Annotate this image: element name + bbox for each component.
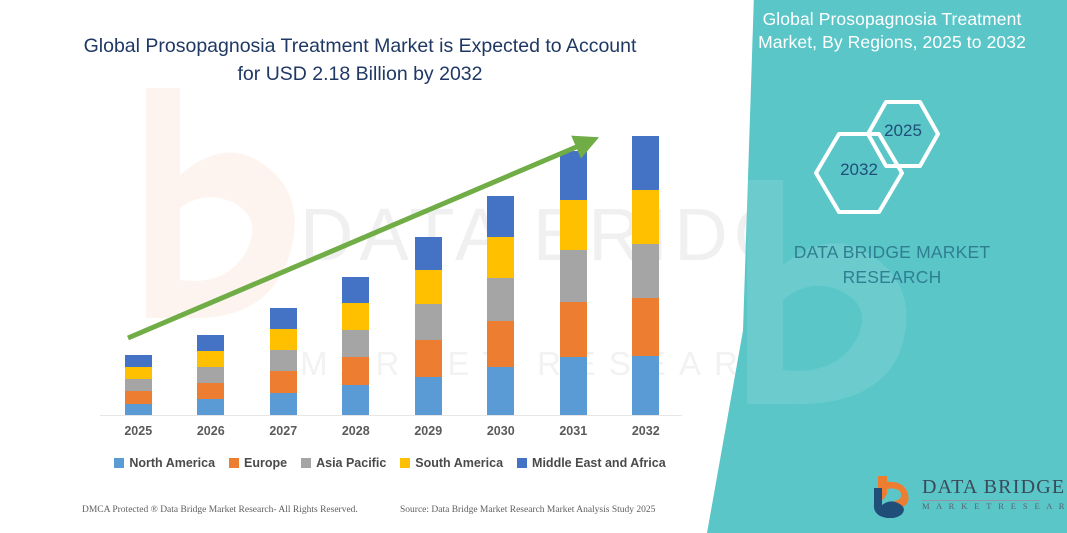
x-axis-labels: 20252026202720282029203020312032 [100,424,680,444]
bar-segment [125,367,152,379]
logo-tagline: M A R K E T R E S E A R C H [922,501,1067,511]
bar-segment [415,304,442,340]
bar-segment [342,357,369,385]
data-bridge-logo: DATA BRIDGE M A R K E T R E S E A R C H [870,472,1045,522]
hexagon-2032-label: 2032 [812,160,906,180]
legend-item[interactable]: Asia Pacific [301,456,386,470]
bar-segment [125,355,152,367]
bar-2029[interactable] [415,237,442,416]
bar-segment [632,356,659,416]
bar-segment [415,377,442,416]
bar-segment [632,190,659,244]
hexagon-group: 2025 2032 [812,98,972,208]
bar-segment [270,350,297,371]
bar-2028[interactable] [342,277,369,416]
legend-swatch-icon [400,458,410,468]
bar-segment [125,379,152,391]
x-axis-label-2025: 2025 [108,424,168,438]
bar-segment [197,383,224,399]
bar-segment [560,357,587,416]
bar-segment [632,136,659,190]
x-axis-label-2030: 2030 [471,424,531,438]
side-panel-brand: DATA BRIDGE MARKET RESEARCH [737,240,1047,291]
legend-swatch-icon [517,458,527,468]
legend-label: South America [415,456,503,470]
bar-segment [270,329,297,350]
bar-segment [197,335,224,351]
side-panel-brand-line2: RESEARCH [843,267,942,287]
x-axis-label-2026: 2026 [181,424,241,438]
bar-segment [487,237,514,279]
bar-segment [342,385,369,416]
bar-segment [560,302,587,357]
x-axis-label-2028: 2028 [326,424,386,438]
bar-segment [415,270,442,304]
bar-segment [270,371,297,393]
legend-label: North America [129,456,215,470]
side-panel-title-line2: Market, By Regions, 2025 to 2032 [758,32,1026,52]
bar-2030[interactable] [487,196,514,416]
data-bridge-mark-icon [870,474,916,518]
side-panel-title-line1: Global Prosopagnosia Treatment [763,9,1022,29]
bar-segment [560,200,587,250]
side-panel: Global Prosopagnosia Treatment Market, B… [707,0,1067,533]
bar-segment [197,367,224,383]
hexagon-2032: 2032 [812,130,906,216]
bar-2025[interactable] [125,355,152,416]
chart-title-line1: Global Prosopagnosia Treatment Market is… [84,35,637,57]
bar-2027[interactable] [270,308,297,416]
legend-label: Asia Pacific [316,456,386,470]
legend-swatch-icon [114,458,124,468]
side-panel-title: Global Prosopagnosia Treatment Market, B… [737,8,1047,54]
legend-item[interactable]: Europe [229,456,287,470]
bar-segment [632,244,659,298]
side-panel-brand-line1: DATA BRIDGE MARKET [794,242,990,262]
bar-segment [415,340,442,377]
legend-item[interactable]: North America [114,456,215,470]
chart-legend: North AmericaEuropeAsia PacificSouth Ame… [100,456,680,470]
logo-name: DATA BRIDGE [922,476,1065,499]
bar-segment [270,393,297,416]
x-axis-label-2027: 2027 [253,424,313,438]
bar-segment [487,278,514,321]
legend-label: Middle East and Africa [532,456,666,470]
bar-segment [342,303,369,330]
bar-segment [487,367,514,416]
x-axis-line [100,415,682,416]
chart-title-line2: for USD 2.18 Billion by 2032 [238,63,483,85]
x-axis-label-2029: 2029 [398,424,458,438]
bar-segment [487,196,514,237]
bar-segment [560,151,587,200]
stacked-bar-plot [100,120,680,416]
legend-item[interactable]: Middle East and Africa [517,456,666,470]
legend-label: Europe [244,456,287,470]
bar-2032[interactable] [632,136,659,416]
footer-copyright: DMCA Protected ® Data Bridge Market Rese… [82,505,358,515]
x-axis-label-2031: 2031 [543,424,603,438]
bar-segment [197,351,224,367]
chart-title: Global Prosopagnosia Treatment Market is… [60,33,660,88]
footer-source: Source: Data Bridge Market Research Mark… [400,505,655,515]
legend-swatch-icon [229,458,239,468]
bar-segment [197,399,224,416]
bar-segment [342,330,369,357]
x-axis-label-2032: 2032 [616,424,676,438]
bar-segment [125,391,152,403]
footer: DMCA Protected ® Data Bridge Market Rese… [0,505,710,525]
bar-2031[interactable] [560,151,587,416]
bar-segment [415,237,442,270]
legend-item[interactable]: South America [400,456,503,470]
bar-segment [342,277,369,303]
legend-swatch-icon [301,458,311,468]
chart-panel: DATA BRIDGE MARKET RESEARCH Global Proso… [0,0,720,533]
bar-segment [632,298,659,356]
bar-segment [270,308,297,329]
infographic-page: DATA BRIDGE MARKET RESEARCH Global Proso… [0,0,1067,533]
bar-segment [487,321,514,366]
bar-2026[interactable] [197,335,224,416]
bar-segment [560,250,587,302]
